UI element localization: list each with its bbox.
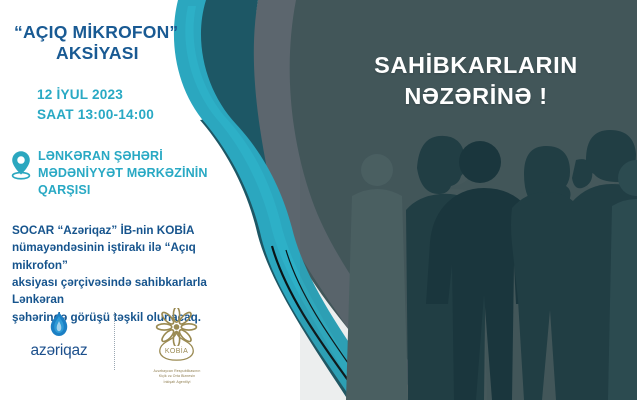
logo-kobia: KOBİA Azərbaycan Respublikasının Kiçik v… (125, 308, 229, 385)
azeriqaz-wordmark: azəriqaz (14, 342, 104, 360)
kobia-flower-icon: KOBİA (131, 308, 222, 363)
event-date: 12 İYUL 2023 (14, 85, 244, 105)
kobia-wordmark: KOBİA (165, 346, 188, 355)
event-location: LƏNKƏRAN ŞƏHƏRİ MƏDƏNİYYƏT MƏRKƏZİNİN QA… (10, 148, 248, 199)
map-pin-icon (10, 150, 32, 180)
poster-canvas: “AÇIQ MİKROFON” AKSİYASI 12 İYUL 2023 SA… (0, 0, 637, 400)
event-location-lines: LƏNKƏRAN ŞƏHƏRİ MƏDƏNİYYƏT MƏRKƏZİNİN QA… (38, 148, 208, 199)
logo-divider (114, 312, 115, 370)
sponsor-logos: azəriqaz KOBİA (14, 308, 244, 394)
kobia-caption: Azərbaycan Respublikasının Kiçik və Orta… (125, 369, 229, 385)
location-line-2: MƏDƏNİYYƏT MƏRKƏZİNİN (38, 165, 208, 182)
event-datetime: 12 İYUL 2023 SAAT 13:00-14:00 (14, 85, 244, 126)
location-line-1: LƏNKƏRAN ŞƏHƏRİ (38, 148, 208, 165)
headline-line-1: SAHİBKARLARIN (331, 50, 621, 81)
description-line-1: SOCAR “Azəriqaz” İB-nin KOBİA (12, 222, 252, 239)
kobia-caption-line-3: İnkişafı Agentliyi (125, 380, 229, 385)
flame-wrap (14, 310, 104, 340)
headline-line-2: NƏZƏRİNƏ ! (331, 81, 621, 112)
description-line-2: nümayəndəsinin iştirakı ilə “Açıq mikrof… (12, 239, 252, 274)
gas-flame-icon (44, 310, 74, 340)
title-line-1: “AÇIQ MİKROFON” (14, 22, 240, 43)
poster-title: “AÇIQ MİKROFON” AKSİYASI (14, 22, 240, 65)
event-time: SAAT 13:00-14:00 (14, 105, 244, 125)
poster-headline: SAHİBKARLARIN NƏZƏRİNƏ ! (331, 50, 621, 113)
logo-azeriqaz: azəriqaz (14, 308, 104, 360)
title-line-2: AKSİYASI (14, 43, 240, 64)
description-line-3: aksiyası çərçivəsində sahibkarlarla Lənk… (12, 274, 252, 309)
location-line-3: QARŞISI (38, 182, 208, 199)
